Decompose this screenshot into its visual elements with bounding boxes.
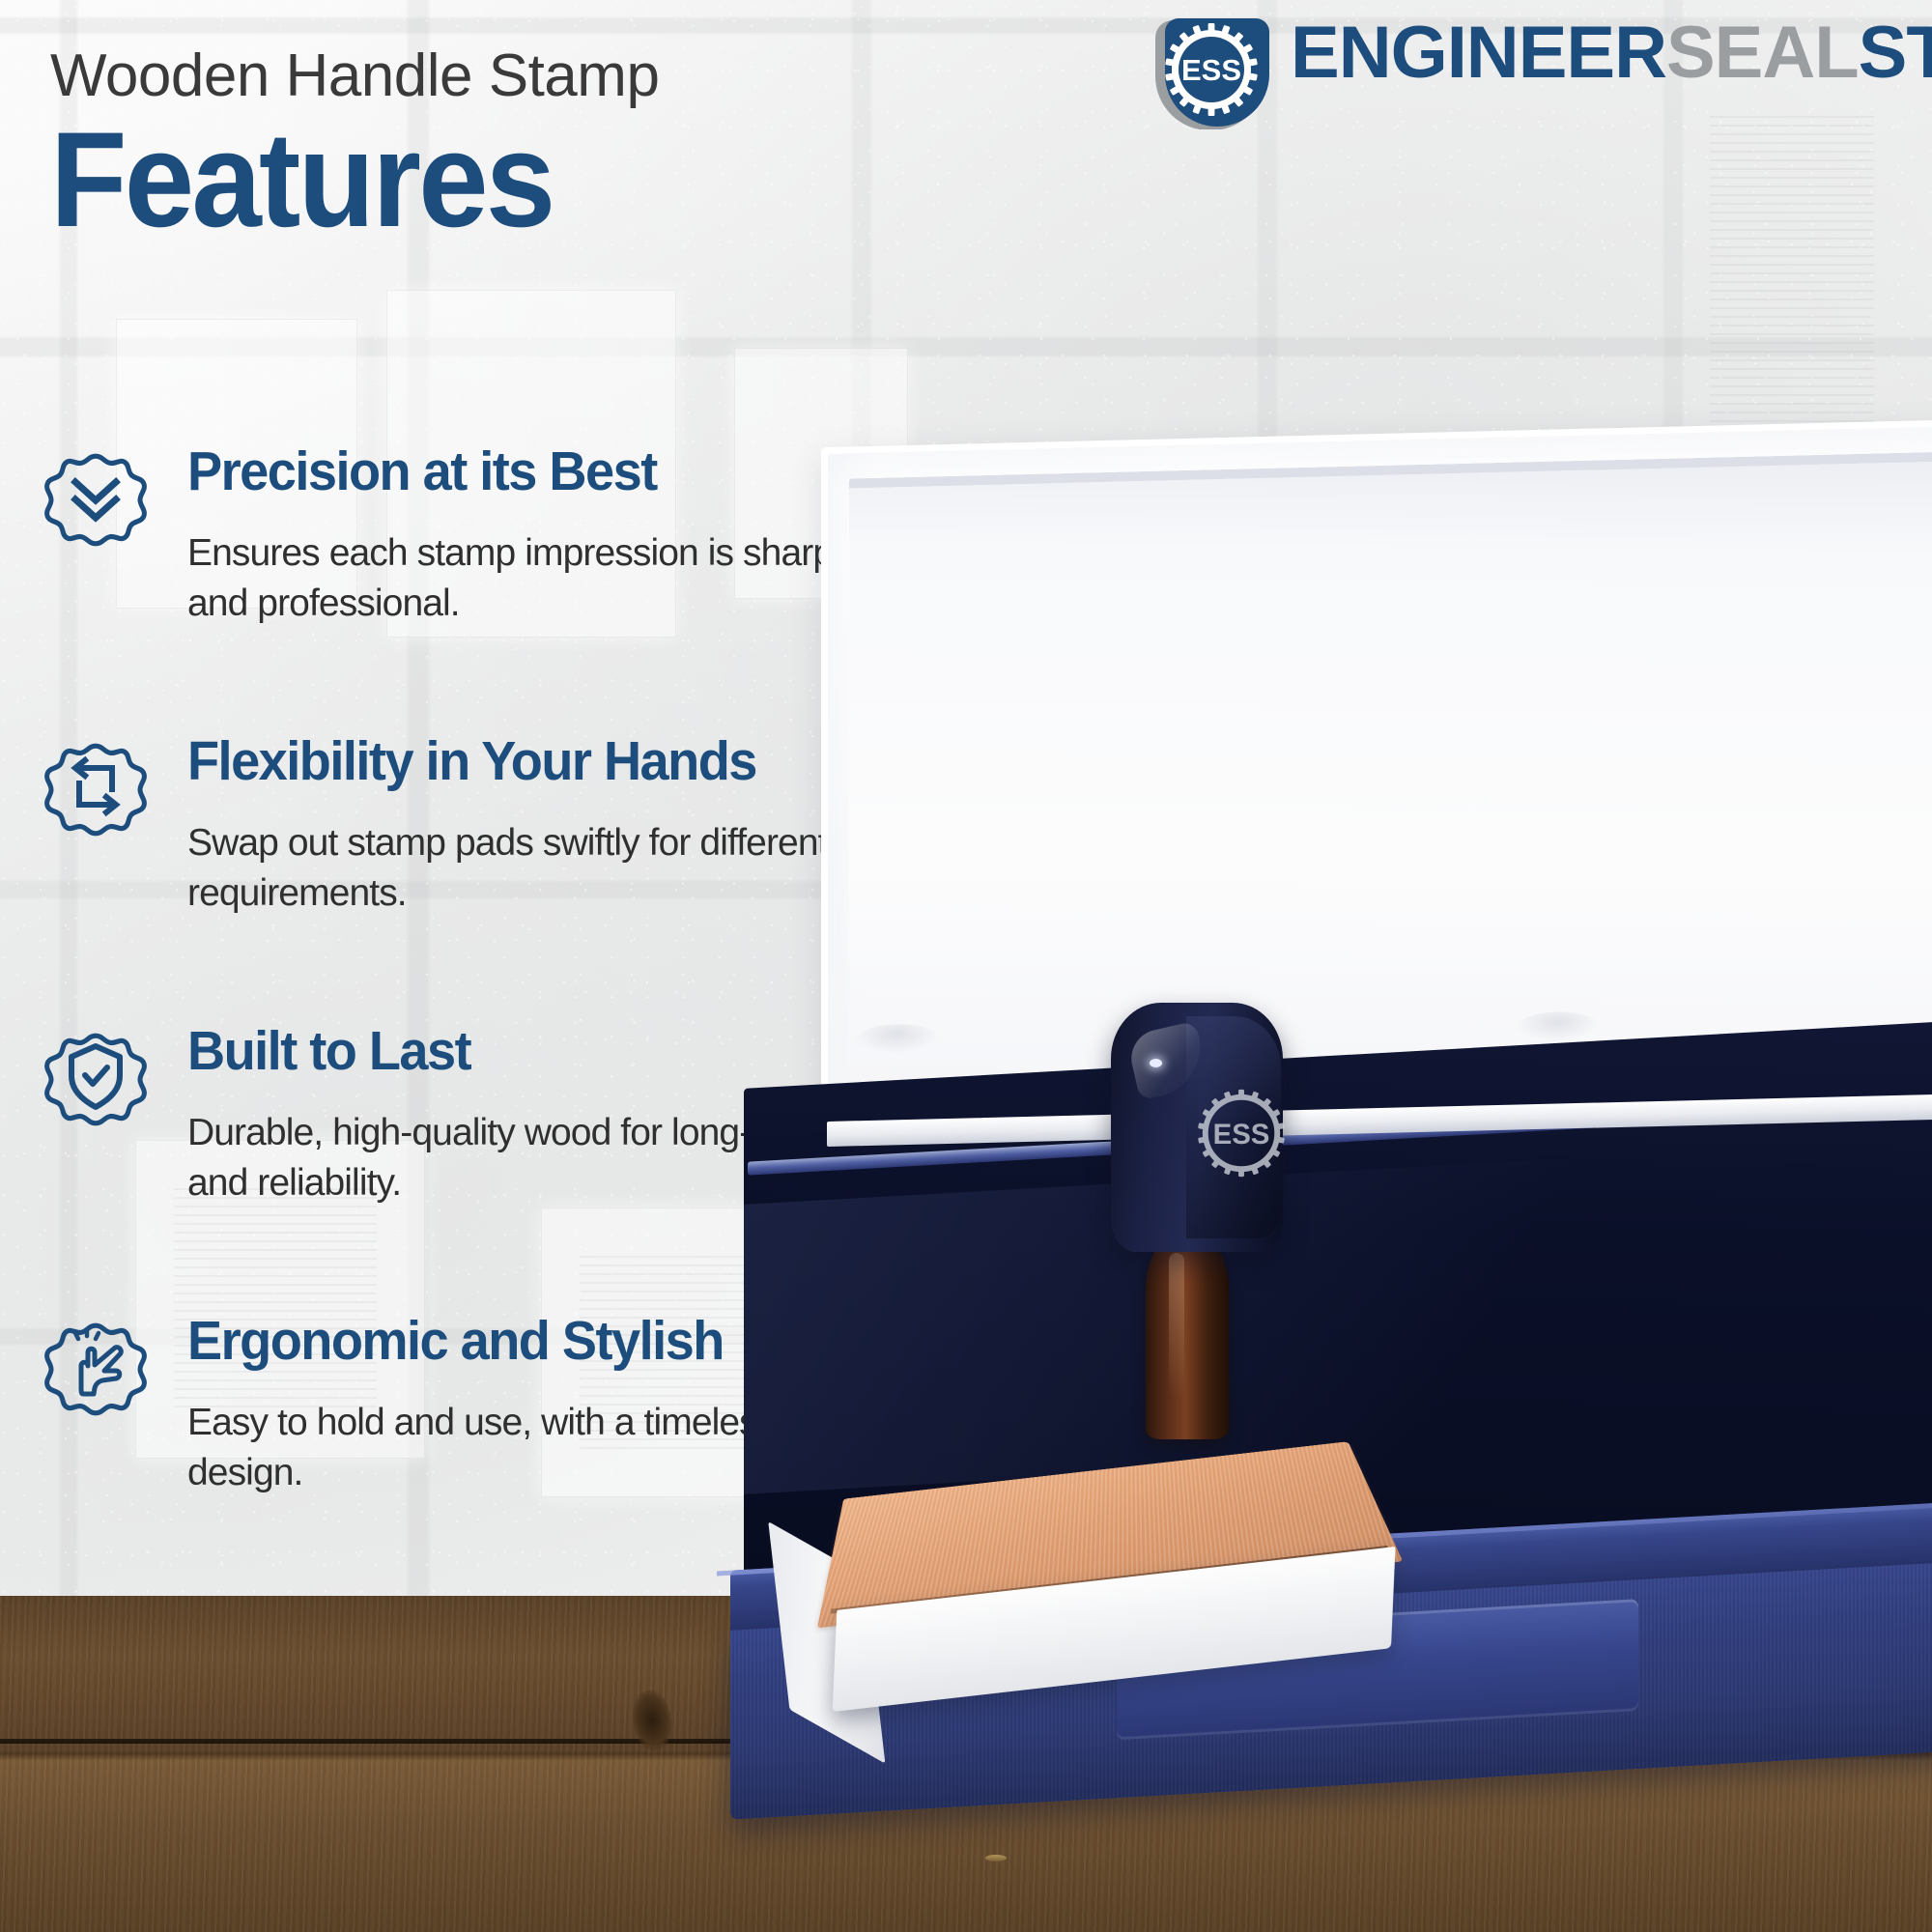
wordmark-stamps: STAMPS <box>1859 19 1932 87</box>
brand-logo[interactable]: ESS ENGINEER SEAL STAMPS .COM <box>1150 14 1913 131</box>
box-lid-dimple <box>1516 1010 1599 1041</box>
stamp-handle-knob: ESS <box>1111 1003 1283 1252</box>
ess-gear-emblem-icon: ESS <box>1194 1086 1289 1180</box>
wordmark-engineer: ENGINEER <box>1291 19 1666 87</box>
tap-hand-seal-icon <box>39 1311 153 1425</box>
handle-monogram-text: ESS <box>1213 1119 1270 1151</box>
product-photo: ESS <box>927 415 1932 1932</box>
stamp-wooden-stem <box>1146 1232 1229 1439</box>
wordmark-seal: SEAL <box>1666 19 1859 87</box>
brand-wordmark: ENGINEER SEAL STAMPS .COM <box>1291 19 1932 126</box>
ess-monogram-text: ESS <box>1181 53 1241 87</box>
double-chevron-down-seal-icon <box>39 441 153 555</box>
header: Wooden Handle Stamp Features <box>50 44 1113 245</box>
ess-shield-logo-icon: ESS <box>1150 15 1277 129</box>
page-title: Features <box>50 113 1038 245</box>
shield-check-seal-icon <box>39 1021 153 1135</box>
page-subtitle: Wooden Handle Stamp <box>50 44 1113 107</box>
knob-specular-highlight <box>1150 1059 1162 1067</box>
swap-arrows-seal-icon <box>39 731 153 845</box>
box-lid-dimple <box>855 1023 938 1054</box>
